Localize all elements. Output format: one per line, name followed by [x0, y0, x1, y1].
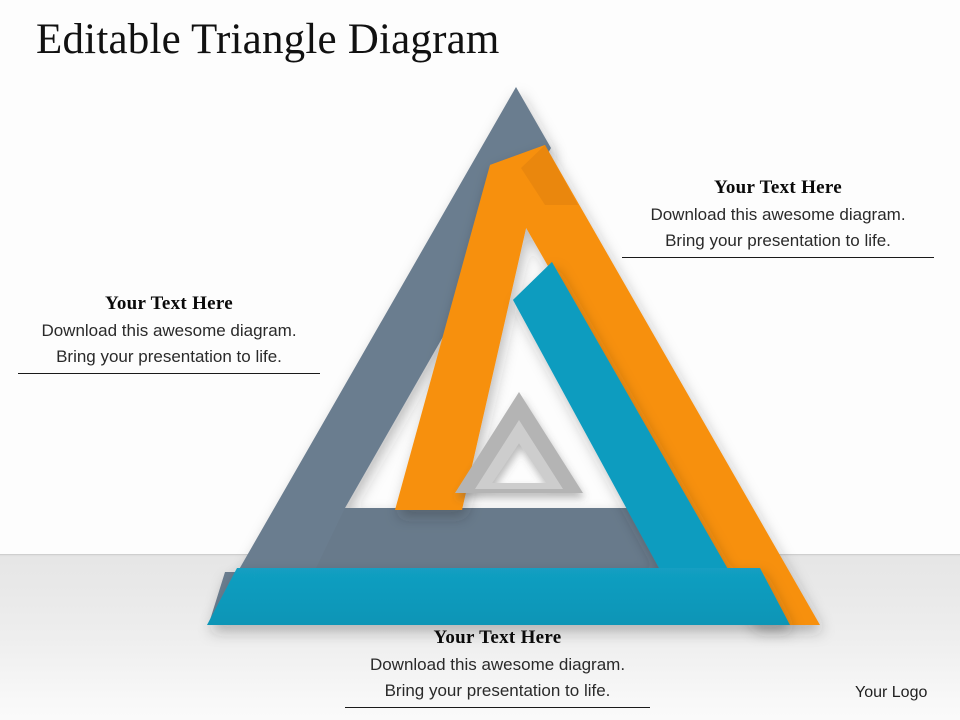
callout-left[interactable]: Your Text Here Download this awesome dia…: [18, 292, 320, 374]
callout-left-rule: [18, 373, 320, 374]
callout-left-line1: Download this awesome diagram.: [18, 316, 320, 342]
slide-canvas: Editable Triangle Diagram: [0, 0, 960, 720]
callout-left-heading: Your Text Here: [18, 292, 320, 316]
callout-bottom-heading: Your Text Here: [345, 626, 650, 650]
callout-right[interactable]: Your Text Here Download this awesome dia…: [622, 176, 934, 258]
callout-bottom-line1: Download this awesome diagram.: [345, 650, 650, 676]
callout-right-heading: Your Text Here: [622, 176, 934, 200]
callout-bottom[interactable]: Your Text Here Download this awesome dia…: [345, 626, 650, 708]
teal-base-bar: [207, 568, 790, 625]
callout-right-line2: Bring your presentation to life.: [622, 226, 934, 252]
logo-placeholder[interactable]: Your Logo: [855, 683, 927, 703]
callout-bottom-rule: [345, 707, 650, 708]
callout-left-line2: Bring your presentation to life.: [18, 342, 320, 368]
teal-left-rise: [513, 262, 552, 300]
callout-right-line1: Download this awesome diagram.: [622, 200, 934, 226]
callout-right-rule: [622, 257, 934, 258]
callout-bottom-line2: Bring your presentation to life.: [345, 676, 650, 702]
